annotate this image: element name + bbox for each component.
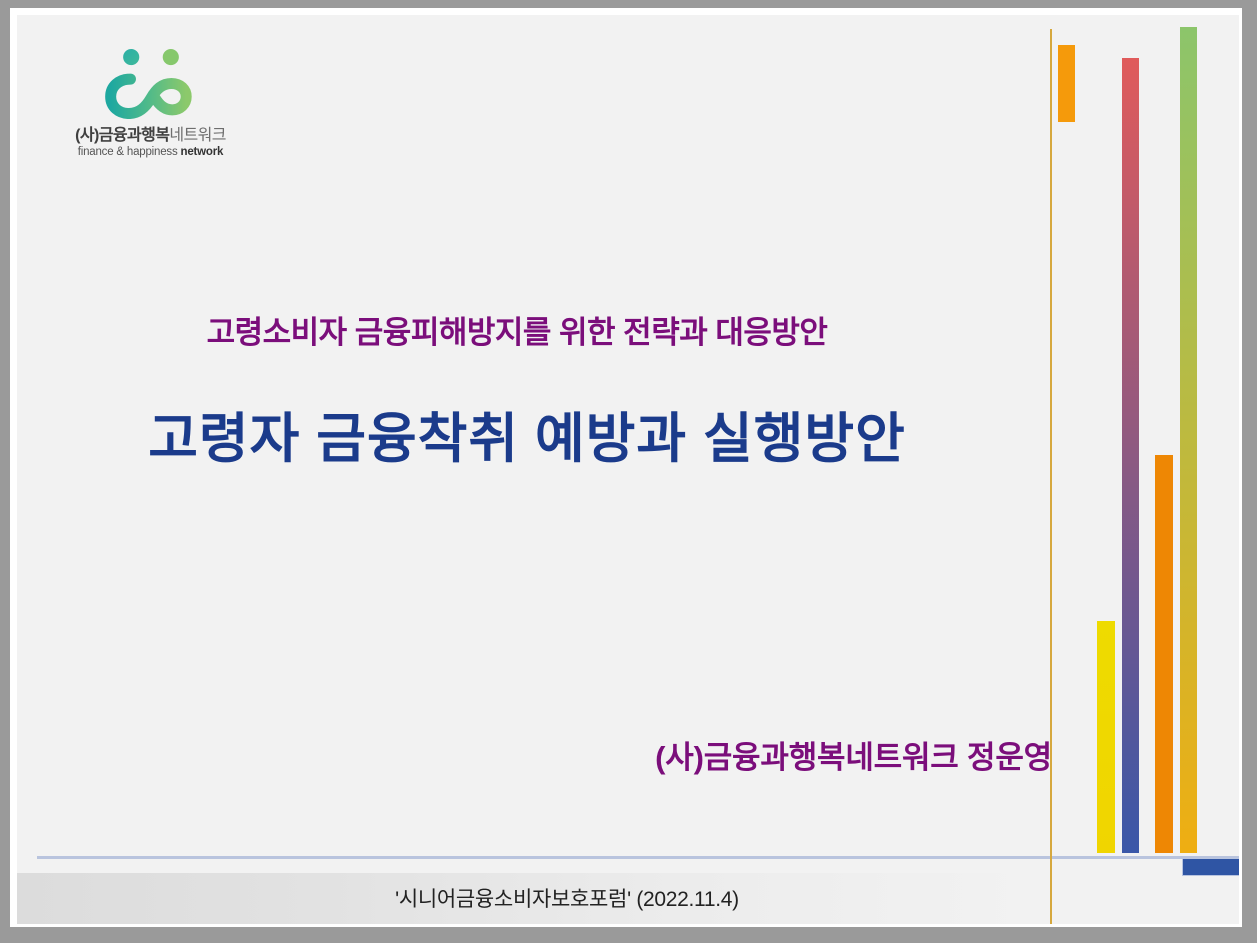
- logo-name-korean-main: 금융과행복: [99, 127, 170, 144]
- decorative-bar-5: [1180, 27, 1197, 853]
- slide-main-title: 고령자 금융착취 예방과 실행방안: [17, 408, 1037, 470]
- logo-name-english: finance & happiness network: [63, 146, 238, 158]
- logo-name-english-light: finance & happiness: [78, 146, 181, 158]
- slide-frame: (사)금융과행복네트워크 finance & happiness network…: [0, 0, 1257, 943]
- decorative-bar-chart: [1025, 15, 1239, 924]
- presenter-line: (사)금융과행복네트워크 정운영: [17, 732, 1052, 777]
- decorative-bar-2: [1097, 621, 1115, 853]
- organization-logo: (사)금융과행복네트워크 finance & happiness network: [63, 45, 238, 158]
- logo-name-korean-suffix: 네트워크: [169, 127, 225, 144]
- decorative-vertical-line: [1050, 29, 1052, 924]
- infinity-people-logo-icon: [96, 45, 206, 119]
- decorative-bar-1: [1058, 45, 1075, 122]
- logo-name-korean-bold: (사): [75, 127, 99, 144]
- logo-name-korean: (사)금융과행복네트워크: [63, 121, 238, 145]
- logo-name-english-bold: network: [181, 146, 224, 158]
- slide-subtitle: 고령소비자 금융피해방지를 위한 전략과 대응방안: [17, 315, 1017, 351]
- footer-text: '시니어금융소비자보호포럼' (2022.11.4): [17, 883, 1117, 913]
- accent-tab: [1182, 858, 1239, 876]
- decorative-bar-4: [1155, 455, 1173, 853]
- slide-canvas: (사)금융과행복네트워크 finance & happiness network…: [17, 15, 1239, 924]
- decorative-bar-3: [1122, 58, 1139, 853]
